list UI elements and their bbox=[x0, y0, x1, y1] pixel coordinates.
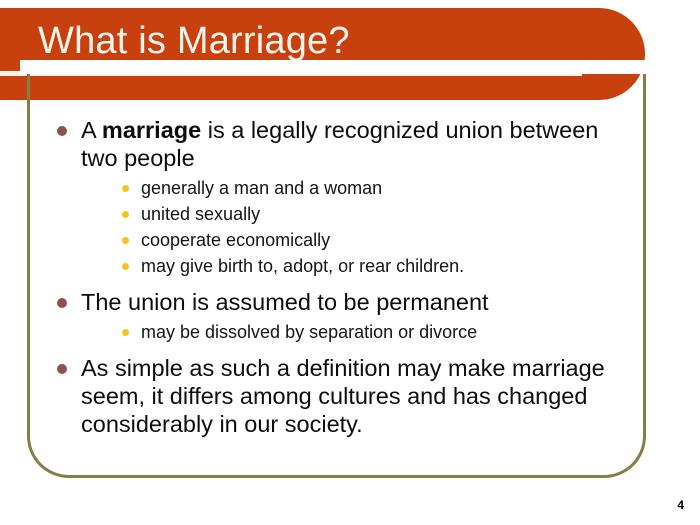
bullet-text-prefix: A bbox=[81, 117, 102, 143]
bullet-dot-icon bbox=[57, 126, 67, 136]
slide-body: A marriage is a legally recognized union… bbox=[50, 116, 630, 440]
presentation-slide: What is Marriage? A marriage is a legall… bbox=[0, 0, 700, 525]
bullet-item-1: A marriage is a legally recognized union… bbox=[50, 116, 630, 279]
sub-bullet-label: may be dissolved by separation or divorc… bbox=[141, 322, 477, 342]
sub-bullet-dot-icon bbox=[122, 211, 129, 218]
sub-bullet-item: cooperate economically bbox=[119, 228, 630, 253]
sub-bullet-item: may be dissolved by separation or divorc… bbox=[119, 320, 630, 345]
sub-bullet-label: may give birth to, adopt, or rear childr… bbox=[141, 256, 464, 276]
sub-bullet-dot-icon bbox=[122, 263, 129, 270]
sub-bullet-item: generally a man and a woman bbox=[119, 176, 630, 201]
sub-bullet-label: cooperate economically bbox=[141, 230, 330, 250]
frame-top-mask bbox=[20, 60, 660, 74]
sub-bullet-label: united sexually bbox=[141, 204, 260, 224]
slide-number: 4 bbox=[677, 498, 684, 512]
sub-bullet-item: may give birth to, adopt, or rear childr… bbox=[119, 254, 630, 279]
sub-bullet-item: united sexually bbox=[119, 202, 630, 227]
bullet-text-bold: marriage bbox=[102, 117, 201, 143]
sub-bullet-dot-icon bbox=[122, 185, 129, 192]
bullet-list-level2-b: may be dissolved by separation or divorc… bbox=[81, 320, 630, 345]
bullet-list-level1: A marriage is a legally recognized union… bbox=[50, 116, 630, 438]
sub-bullet-dot-icon bbox=[122, 237, 129, 244]
bullet-list-level2-a: generally a man and a woman united sexua… bbox=[81, 176, 630, 279]
bullet-item-2: The union is assumed to be permanent may… bbox=[50, 288, 630, 345]
sub-bullet-label: generally a man and a woman bbox=[141, 178, 382, 198]
bullet-item-3: As simple as such a definition may make … bbox=[50, 354, 630, 438]
bullet-label: As simple as such a definition may make … bbox=[81, 355, 605, 437]
slide-title: What is Marriage? bbox=[38, 19, 350, 63]
sub-bullet-dot-icon bbox=[122, 329, 129, 336]
bullet-dot-icon bbox=[57, 364, 67, 374]
bullet-label: The union is assumed to be permanent bbox=[81, 289, 489, 315]
bullet-dot-icon bbox=[57, 298, 67, 308]
